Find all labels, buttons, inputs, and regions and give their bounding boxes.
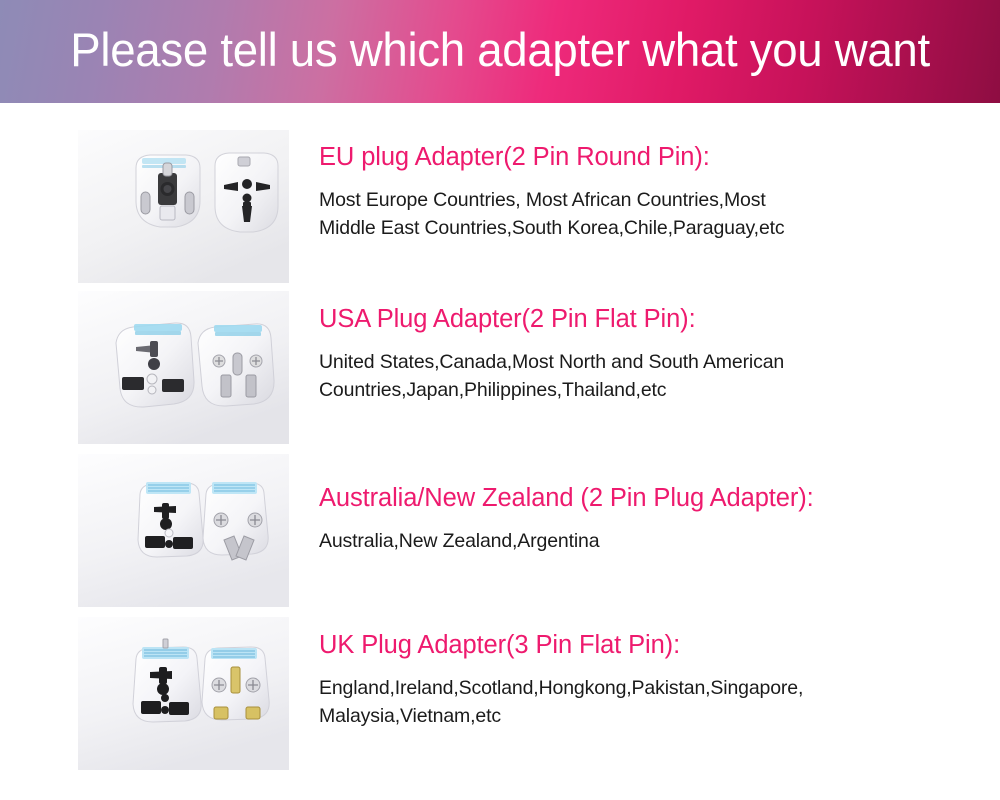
uk-plug-adapter-photo — [78, 617, 289, 770]
adapter-title-uk: UK Plug Adapter(3 Pin Flat Pin): — [319, 631, 1000, 659]
description-line: Countries,Japan,Philippines,Thailand,etc — [319, 377, 929, 405]
description-line: Malaysia,Vietnam,etc — [319, 703, 929, 731]
adapter-item-uk[interactable]: UK Plug Adapter(3 Pin Flat Pin): England… — [0, 617, 1000, 770]
eu-plug-adapter-image — [78, 130, 289, 283]
description-line: United States,Canada,Most North and Sout… — [319, 349, 929, 377]
adapter-item-usa[interactable]: USA Plug Adapter(2 Pin Flat Pin): United… — [0, 291, 1000, 444]
usa-plug-adapter-photo — [78, 291, 289, 444]
description-line: Australia,New Zealand,Argentina — [319, 528, 929, 556]
adapter-info-usa: USA Plug Adapter(2 Pin Flat Pin): United… — [289, 291, 1000, 404]
adapter-item-eu[interactable]: EU plug Adapter(2 Pin Round Pin): Most E… — [0, 130, 1000, 283]
adapter-title-eu: EU plug Adapter(2 Pin Round Pin): — [319, 143, 1000, 171]
australia-newzealand-plug-adapter-image — [78, 454, 289, 607]
description-line: England,Ireland,Scotland,Hongkong,Pakist… — [319, 675, 929, 703]
page-title: Please tell us which adapter what you wa… — [70, 26, 930, 77]
adapter-description-eu: Most Europe Countries, Most African Coun… — [319, 187, 929, 242]
adapter-info-eu: EU plug Adapter(2 Pin Round Pin): Most E… — [289, 130, 1000, 242]
adapter-title-usa: USA Plug Adapter(2 Pin Flat Pin): — [319, 305, 1000, 333]
australia-newzealand-plug-adapter-photo — [78, 454, 289, 607]
adapter-list: EU plug Adapter(2 Pin Round Pin): Most E… — [0, 103, 1000, 770]
adapter-info-australia-newzealand: Australia/New Zealand (2 Pin Plug Adapte… — [289, 454, 1000, 556]
description-line: Most Europe Countries, Most African Coun… — [319, 187, 929, 215]
page-banner: Please tell us which adapter what you wa… — [0, 0, 1000, 103]
eu-plug-adapter-photo — [78, 130, 289, 283]
adapter-description-uk: England,Ireland,Scotland,Hongkong,Pakist… — [319, 675, 929, 730]
adapter-description-australia-newzealand: Australia,New Zealand,Argentina — [319, 528, 929, 556]
adapter-description-usa: United States,Canada,Most North and Sout… — [319, 349, 929, 404]
adapter-title-australia-newzealand: Australia/New Zealand (2 Pin Plug Adapte… — [319, 484, 1000, 512]
uk-plug-adapter-image — [78, 617, 289, 770]
adapter-info-uk: UK Plug Adapter(3 Pin Flat Pin): England… — [289, 617, 1000, 730]
usa-plug-adapter-image — [78, 291, 289, 444]
adapter-item-australia-newzealand[interactable]: Australia/New Zealand (2 Pin Plug Adapte… — [0, 454, 1000, 607]
description-line: Middle East Countries,South Korea,Chile,… — [319, 215, 929, 243]
